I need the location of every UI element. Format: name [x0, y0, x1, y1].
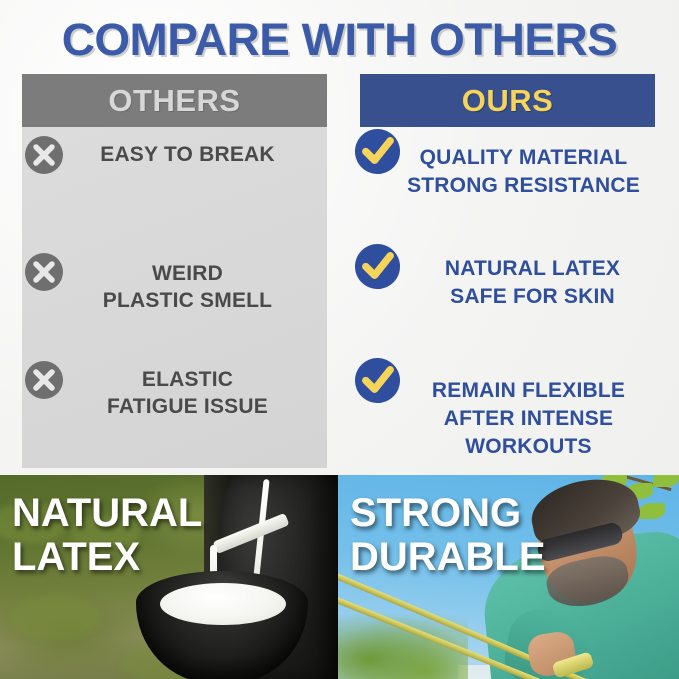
check-circle-icon	[354, 243, 401, 290]
page-title: COMPARE WITH OTHERS	[0, 14, 679, 66]
others-item-3-text: ELASTIC FATIGUE ISSUE	[64, 358, 327, 420]
ours-item-1: QUALITY MATERIAL STRONG RESISTANCE	[352, 128, 662, 200]
collection-bowl	[136, 571, 308, 679]
check-circle-icon	[354, 357, 401, 404]
strong-durable-photo: STRONG DURABLE	[338, 475, 679, 679]
ours-item-2: NATURAL LATEX SAFE FOR SKIN	[352, 243, 662, 311]
ours-header: OURS	[360, 74, 655, 127]
others-item-2-text: WEIRD PLASTIC SMELL	[64, 250, 327, 314]
photo-strip: NATURAL LATEX	[0, 475, 679, 679]
ours-column: OURS	[360, 74, 655, 127]
latex-pool	[160, 583, 286, 625]
others-column: OTHERS	[22, 74, 327, 127]
ours-item-3: REMAIN FLEXIBLE AFTER INTENSE WORKOUTS	[352, 357, 662, 461]
others-item-2: WEIRD PLASTIC SMELL	[22, 250, 327, 314]
ours-item-1-text: QUALITY MATERIAL STRONG RESISTANCE	[385, 128, 662, 200]
others-header: OTHERS	[22, 74, 327, 127]
natural-latex-caption: NATURAL LATEX	[12, 491, 202, 579]
ours-item-3-text: REMAIN FLEXIBLE AFTER INTENSE WORKOUTS	[395, 357, 662, 461]
x-circle-icon	[24, 135, 64, 175]
natural-latex-photo: NATURAL LATEX	[0, 475, 338, 679]
others-item-3: ELASTIC FATIGUE ISSUE	[22, 358, 327, 420]
ours-item-2-text: NATURAL LATEX SAFE FOR SKIN	[403, 243, 662, 311]
x-circle-icon	[24, 360, 64, 400]
others-item-1: EASY TO BREAK	[22, 133, 327, 175]
x-circle-icon	[24, 252, 64, 292]
strong-durable-caption: STRONG DURABLE	[350, 491, 546, 579]
others-item-1-text: EASY TO BREAK	[64, 133, 327, 168]
comparison-infographic: COMPARE WITH OTHERS OTHERS EASY TO BREAK…	[0, 0, 679, 679]
